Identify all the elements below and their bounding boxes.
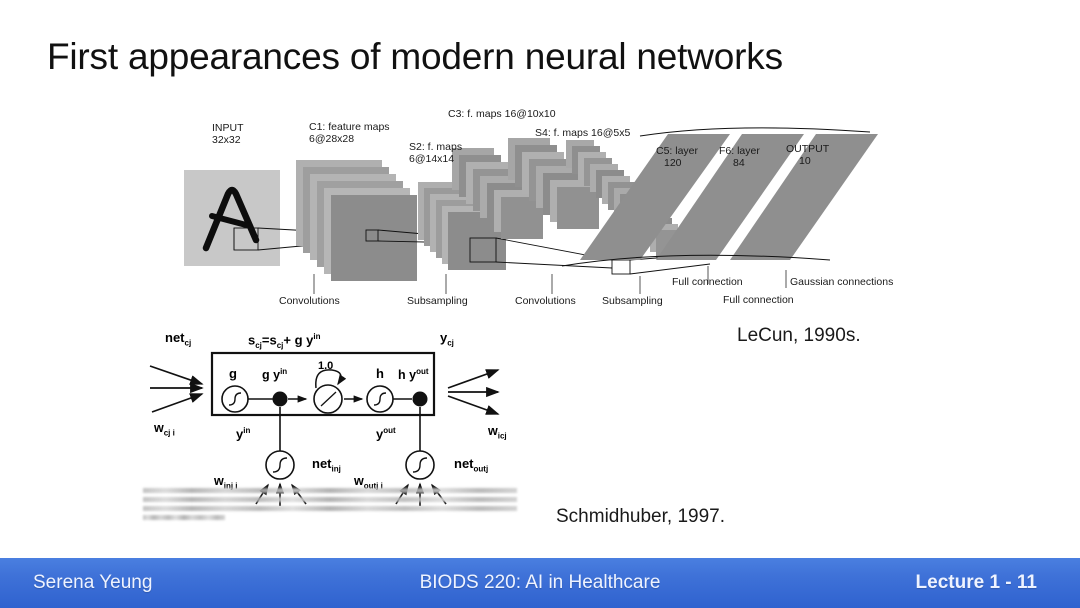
footer-lecture: Lecture 1 - 11: [916, 572, 1037, 594]
page-title: First appearances of modern neural netwo…: [47, 36, 783, 78]
label-c5-line1: C5: layer: [656, 145, 698, 158]
label-weight-cell: wcj i: [154, 421, 175, 438]
label-f6-line2: 84: [733, 157, 745, 170]
input-plane: [184, 170, 280, 266]
footer-author: Serena Yeung: [33, 572, 152, 594]
label-c3: C3: f. maps 16@10x10: [448, 108, 556, 121]
label-net-in: netinj: [312, 456, 341, 474]
label-op-gaussian-connections: Gaussian connections: [790, 276, 893, 289]
label-op-full-connection-1: Full connection: [672, 276, 743, 289]
multiplicative-input-gate-node: [273, 392, 288, 407]
label-input-line1: INPUT: [212, 122, 244, 135]
label-gate-g: g: [229, 366, 237, 381]
multiplicative-output-gate-node: [413, 392, 428, 407]
label-c1-line2: 6@28x28: [309, 133, 354, 146]
lenet-architecture-figure: INPUT 32x32 C1: feature maps 6@28x28 S2:…: [170, 108, 920, 318]
label-y-in: yin: [236, 426, 250, 441]
label-c5-line2: 120: [664, 157, 682, 170]
label-op-convolutions-1: Convolutions: [279, 295, 340, 308]
caption-line: [143, 515, 225, 520]
label-output-line1: OUTPUT: [786, 143, 829, 156]
label-h-times-yout: h yout: [398, 367, 429, 382]
citation-schmidhuber: Schmidhuber, 1997.: [556, 506, 725, 528]
footer-bar: Serena Yeung BIODS 220: AI in Healthcare…: [0, 558, 1080, 608]
label-s4: S4: f. maps 16@5x5: [535, 127, 630, 140]
caption-line: [143, 488, 517, 493]
label-gate-h: h: [376, 366, 384, 381]
label-input-line2: 32x32: [212, 134, 241, 147]
slide: First appearances of modern neural netwo…: [0, 0, 1080, 608]
label-y-cell: ycj: [440, 330, 454, 348]
label-net-cell: netcj: [165, 330, 191, 348]
label-net-out: netoutj: [454, 456, 488, 474]
label-op-full-connection-2: Full connection: [723, 294, 794, 307]
cell-input-arrows: [150, 366, 202, 412]
label-state-equation: scj=scj+ g yin: [248, 332, 321, 350]
caption-line: [143, 497, 517, 502]
label-g-times-yin: g yin: [262, 367, 287, 382]
figure-caption-blurred: [143, 488, 517, 524]
label-constant-1: 1.0: [318, 360, 333, 372]
footer-course: BIODS 220: AI in Healthcare: [420, 572, 661, 594]
caption-line: [143, 506, 517, 511]
label-op-subsampling-1: Subsampling: [407, 295, 468, 308]
label-weight-ic: wicj: [488, 424, 507, 441]
label-f6-line1: F6: layer: [719, 145, 760, 158]
label-y-out: yout: [376, 426, 396, 441]
label-op-convolutions-2: Convolutions: [515, 295, 576, 308]
cell-output-arrows: [448, 370, 498, 414]
citation-lecun: LeCun, 1990s.: [737, 325, 861, 347]
c1-feature-maps: [296, 160, 417, 281]
label-output-line2: 10: [799, 155, 811, 168]
label-op-subsampling-2: Subsampling: [602, 295, 663, 308]
label-s2-line1: S2: f. maps: [409, 141, 462, 154]
label-s2-line2: 6@14x14: [409, 153, 454, 166]
label-c1-line1: C1: feature maps: [309, 121, 390, 134]
